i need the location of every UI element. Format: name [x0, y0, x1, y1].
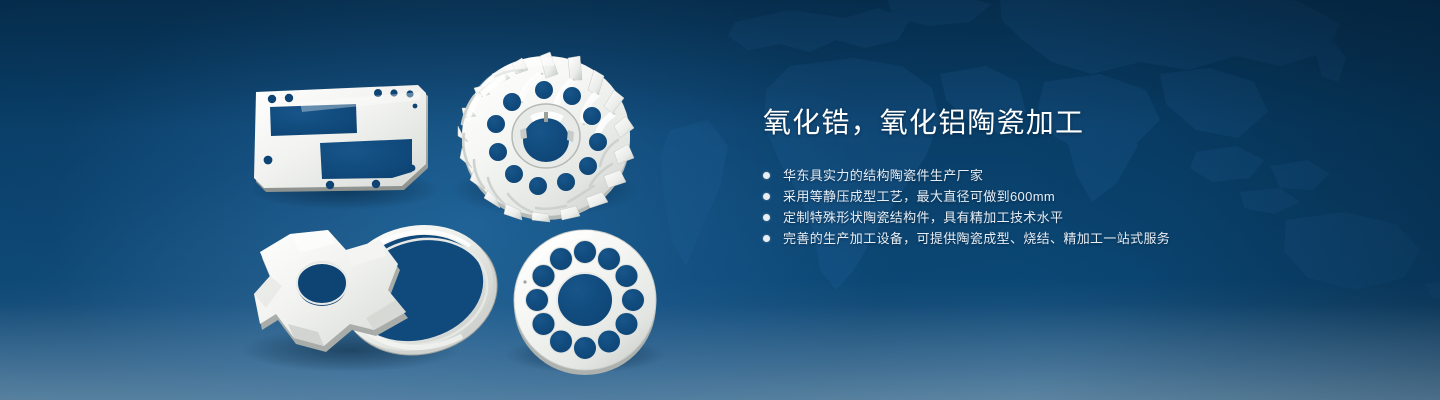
feature-list: 华东具实力的结构陶瓷件生产厂家 采用等静压成型工艺，最大直径可做到600mm 定…: [763, 165, 1383, 249]
banner-text-block: 氧化锆，氧化铝陶瓷加工 华东具实力的结构陶瓷件生产厂家 采用等静压成型工艺，最大…: [763, 106, 1383, 249]
feature-text: 完善的生产加工设备，可提供陶瓷成型、烧结、精加工一站式服务: [783, 228, 1170, 249]
bullet-dot-icon: [763, 172, 770, 179]
feature-text: 华东具实力的结构陶瓷件生产厂家: [783, 165, 983, 186]
promo-banner: 氧化锆，氧化铝陶瓷加工 华东具实力的结构陶瓷件生产厂家 采用等静压成型工艺，最大…: [0, 0, 1440, 400]
ceramic-products-artwork: [0, 0, 760, 400]
feature-text: 定制特殊形状陶瓷结构件，具有精加工技术水平: [783, 207, 1063, 228]
bullet-dot-icon: [763, 193, 770, 200]
ceramic-ring-plate-with-holes: [514, 230, 656, 375]
list-item: 华东具实力的结构陶瓷件生产厂家: [763, 165, 1383, 186]
ceramic-plate-with-cutouts: [254, 85, 428, 192]
list-item: 定制特殊形状陶瓷结构件，具有精加工技术水平: [763, 207, 1383, 228]
list-item: 采用等静压成型工艺，最大直径可做到600mm: [763, 186, 1383, 207]
list-item: 完善的生产加工设备，可提供陶瓷成型、烧结、精加工一站式服务: [763, 228, 1383, 249]
bullet-dot-icon: [763, 214, 770, 221]
feature-text: 采用等静压成型工艺，最大直径可做到600mm: [783, 186, 1055, 207]
page-title: 氧化锆，氧化铝陶瓷加工: [763, 106, 1383, 140]
bullet-dot-icon: [763, 235, 770, 242]
